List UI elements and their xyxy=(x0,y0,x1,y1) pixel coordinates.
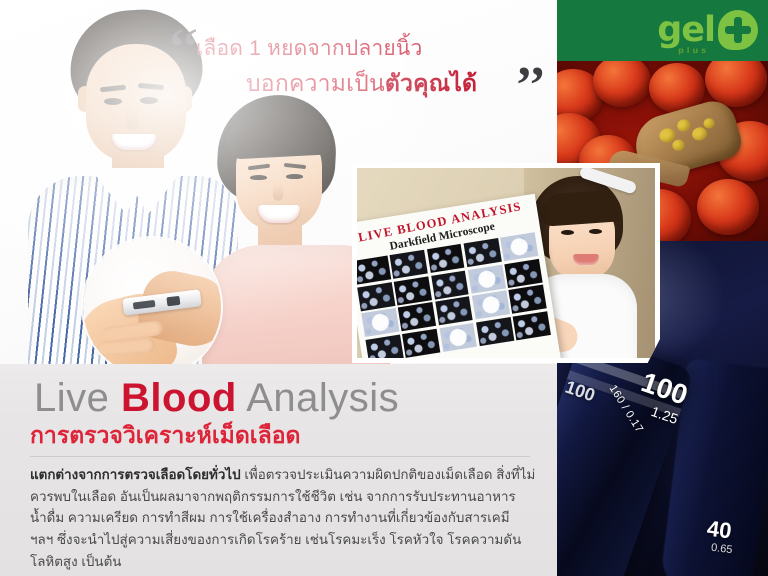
quote-line-2-emphasis: ตัวคุณได้ xyxy=(385,70,477,96)
title-part-live: Live xyxy=(34,376,109,420)
nurse-poster-photo: LIVE BLOOD ANALYSIS Darkfield Microscope xyxy=(357,168,655,358)
body-rest-text: เพื่อตรวจประเมินความผิดปกติของเม็ดเลือด … xyxy=(30,467,535,569)
sample-thumb xyxy=(365,334,403,358)
body-paragraph: แตกต่างจากการตรวจเลือดโดยทั่วไป เพื่อตรว… xyxy=(30,464,536,573)
body-lead-text: แตกต่างจากการตรวจเลือดโดยทั่วไป xyxy=(30,467,241,482)
woman-mouth xyxy=(258,205,300,223)
text-panel: Live Blood Analysis การตรวจวิเคราะห์เม็ด… xyxy=(0,364,557,576)
lancet-device-icon xyxy=(122,289,201,315)
man-eye-right xyxy=(140,97,158,104)
brand-logo[interactable]: gel plus xyxy=(657,8,758,52)
woman-brow-right xyxy=(284,163,306,169)
sample-thumb xyxy=(435,296,473,325)
sample-thumb xyxy=(472,290,510,319)
nurse-poster-inset: LIVE BLOOD ANALYSIS Darkfield Microscope xyxy=(352,163,660,363)
sample-thumb xyxy=(431,270,469,299)
medical-cross-icon xyxy=(718,10,758,50)
man-brow-right xyxy=(138,83,164,90)
sample-thumb xyxy=(361,308,399,337)
brand-sub-text: plus xyxy=(678,47,709,55)
sample-thumb xyxy=(476,317,514,346)
nurse-eye-left xyxy=(561,230,574,235)
sample-thumb xyxy=(468,264,506,293)
analysis-poster: LIVE BLOOD ANALYSIS Darkfield Microscope xyxy=(357,194,561,358)
quote-close-icon: ’’ xyxy=(515,60,546,112)
nurse-mouth xyxy=(573,254,599,265)
man-striped-shirt xyxy=(28,176,238,378)
brand-name-text: gel xyxy=(657,10,715,50)
brand-wordmark: gel plus xyxy=(657,13,715,48)
objective-secondary-mag-label: 40 xyxy=(706,516,733,545)
man-mouth xyxy=(112,134,156,150)
page-title: Live Blood Analysis xyxy=(34,378,399,418)
woman-brow-left xyxy=(248,164,270,171)
man-brow-left xyxy=(100,85,126,93)
divider xyxy=(30,456,530,457)
red-blood-cell xyxy=(697,179,759,235)
man-collar xyxy=(90,168,184,214)
man-nose xyxy=(126,108,138,130)
sample-thumb xyxy=(390,250,428,279)
woman-neck xyxy=(258,225,302,255)
sample-thumb xyxy=(439,322,477,351)
man-ear-right xyxy=(178,86,192,112)
man-neck xyxy=(112,154,164,192)
hand-lower xyxy=(83,288,181,376)
woman-hair xyxy=(215,92,338,206)
quote-open-icon: ‘‘ xyxy=(168,22,199,74)
sample-thumb xyxy=(394,276,432,305)
nurse-fringe xyxy=(540,189,622,227)
woman-face xyxy=(236,125,322,231)
nurse-eye-right xyxy=(589,229,602,234)
photo-man xyxy=(28,8,238,378)
lancet-inset-circle xyxy=(83,238,221,376)
woman-fringe xyxy=(225,114,331,159)
sample-thumb xyxy=(357,256,391,285)
woman-eye-left xyxy=(250,175,267,180)
woman-eye-right xyxy=(286,174,303,179)
poster-root: ‘‘ เลือด 1 หยดจากปลายนิ้ว บอกความเป็นตัว… xyxy=(0,0,768,576)
sample-thumb xyxy=(463,238,501,267)
sample-thumb xyxy=(427,244,465,273)
man-ear-left xyxy=(78,86,92,112)
man-hair xyxy=(67,6,206,119)
sample-thumb xyxy=(500,232,538,261)
finger-two xyxy=(97,337,156,356)
sample-thumb xyxy=(357,282,395,311)
finger-one xyxy=(100,320,163,343)
woman-nose xyxy=(273,183,283,201)
title-part-analysis: Analysis xyxy=(246,376,399,420)
red-blood-cell xyxy=(593,61,651,107)
brand-bar: gel plus xyxy=(557,0,768,61)
quote-line-2: บอกความเป็นตัวคุณได้ xyxy=(246,66,477,102)
sample-thumb xyxy=(504,258,542,287)
page-subtitle: การตรวจวิเคราะห์เม็ดเลือด xyxy=(30,424,301,447)
man-eye-left xyxy=(104,98,122,105)
sample-thumb xyxy=(398,302,436,331)
hero-quote: ‘‘ เลือด 1 หยดจากปลายนิ้ว บอกความเป็นตัว… xyxy=(168,16,548,112)
sample-thumb xyxy=(402,328,440,357)
sample-thumb xyxy=(509,285,547,314)
quote-line-1: เลือด 1 หยดจากปลายนิ้ว xyxy=(196,32,422,65)
man-face xyxy=(86,44,186,162)
title-part-blood: Blood xyxy=(121,376,237,420)
hand-upper xyxy=(135,266,221,353)
sample-thumb xyxy=(513,311,551,340)
quote-line-2-plain: บอกความเป็น xyxy=(246,70,385,96)
objective-secondary-na-label: 0.65 xyxy=(710,542,733,557)
red-blood-cell xyxy=(705,61,767,107)
